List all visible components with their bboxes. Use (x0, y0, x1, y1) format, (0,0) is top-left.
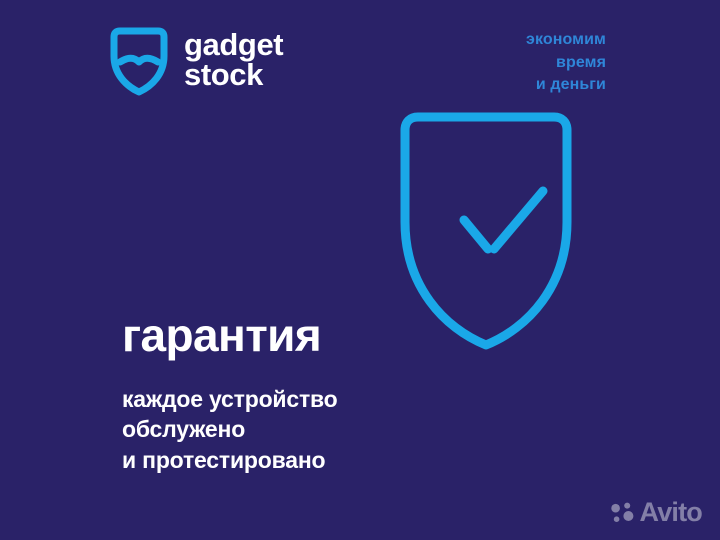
copy-block: гарантия каждое устройство обслужено и п… (122, 312, 452, 475)
subcopy-line3: и протестировано (122, 445, 452, 475)
brand-name-line2: stock (184, 60, 283, 90)
tagline-line1: экономим (526, 29, 606, 52)
avito-watermark-label: Avito (640, 499, 703, 526)
brand-wordmark: gadget stock (184, 30, 283, 91)
avito-dots-icon (609, 500, 635, 526)
tagline: экономим время и деньги (526, 29, 606, 97)
page-title: гарантия (122, 312, 452, 358)
avito-watermark: Avito (609, 499, 703, 526)
tagline-line3: и деньги (526, 74, 606, 97)
brand-lockup[interactable]: gadget stock (108, 24, 283, 96)
shield-logo-icon (108, 24, 170, 96)
brand-name-line1: gadget (184, 30, 283, 60)
subcopy-line2: обслужено (122, 414, 452, 444)
promo-banner: gadget stock экономим время и деньги гар… (0, 0, 720, 540)
subcopy: каждое устройство обслужено и протестиро… (122, 384, 452, 475)
subcopy-line1: каждое устройство (122, 384, 452, 414)
tagline-line2: время (526, 52, 606, 75)
